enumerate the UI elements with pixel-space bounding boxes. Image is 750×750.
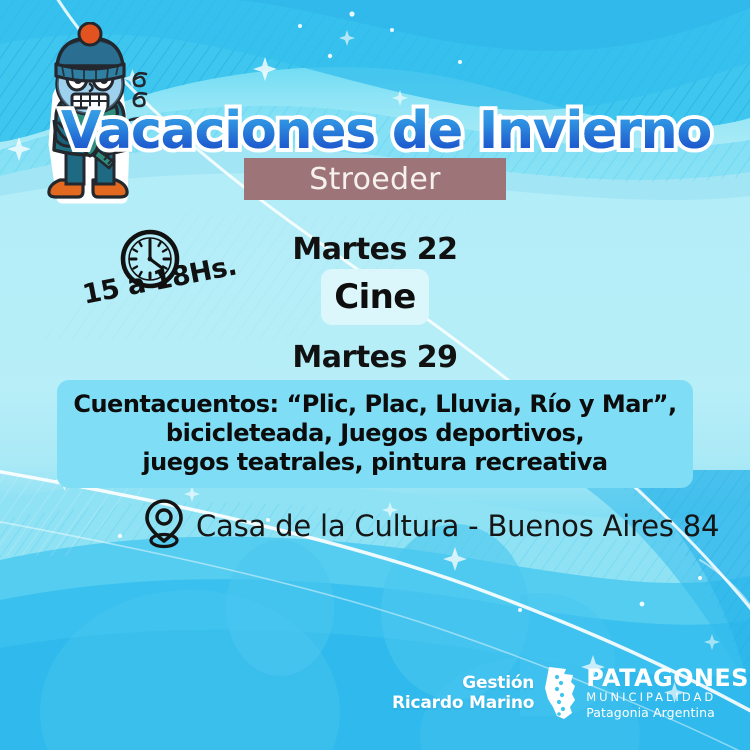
gestion-block: Gestión Ricardo Marino	[392, 673, 534, 713]
schedule-date-1: Martes 22	[0, 232, 750, 267]
logo-name: PATAGONES	[586, 666, 749, 690]
activity-box-description: Cuentacuentos: “Plic, Plac, Lluvia, Río …	[57, 380, 693, 488]
description-line-3: juegos teatrales, pintura recreativa	[65, 448, 685, 477]
gestion-line-2: Ricardo Marino	[392, 693, 534, 713]
activity-label-cine: Cine	[334, 277, 415, 317]
subtitle-banner: Stroeder	[244, 158, 506, 200]
description-line-2: bicicleteada, Juegos deportivos,	[65, 419, 685, 448]
logo-tagline: Patagonia Argentina	[586, 705, 749, 720]
footer: Gestión Ricardo Marino PATAGONES MUNICIP…	[392, 666, 749, 720]
location-label: Casa de la Cultura - Buenos Aires 84	[196, 509, 719, 543]
subtitle-label: Stroeder	[309, 162, 441, 197]
patagones-logo-text: PATAGONES MUNICIPALIDAD Patagonia Argent…	[586, 666, 749, 719]
winter-holidays-poster: Vacaciones de Invierno Vacaciones de Inv…	[0, 0, 750, 750]
location-pin-icon	[141, 497, 187, 549]
activity-box-cine: Cine	[321, 269, 429, 325]
description-line-1: Cuentacuentos: “Plic, Plac, Lluvia, Río …	[65, 390, 685, 419]
gestion-line-1: Gestión	[392, 673, 534, 693]
schedule-date-2: Martes 29	[0, 340, 750, 375]
patagones-district-map-icon	[542, 666, 578, 720]
shivering-boy-winter-mascot-icon	[18, 22, 158, 212]
logo-kicker: MUNICIPALIDAD	[586, 690, 749, 704]
